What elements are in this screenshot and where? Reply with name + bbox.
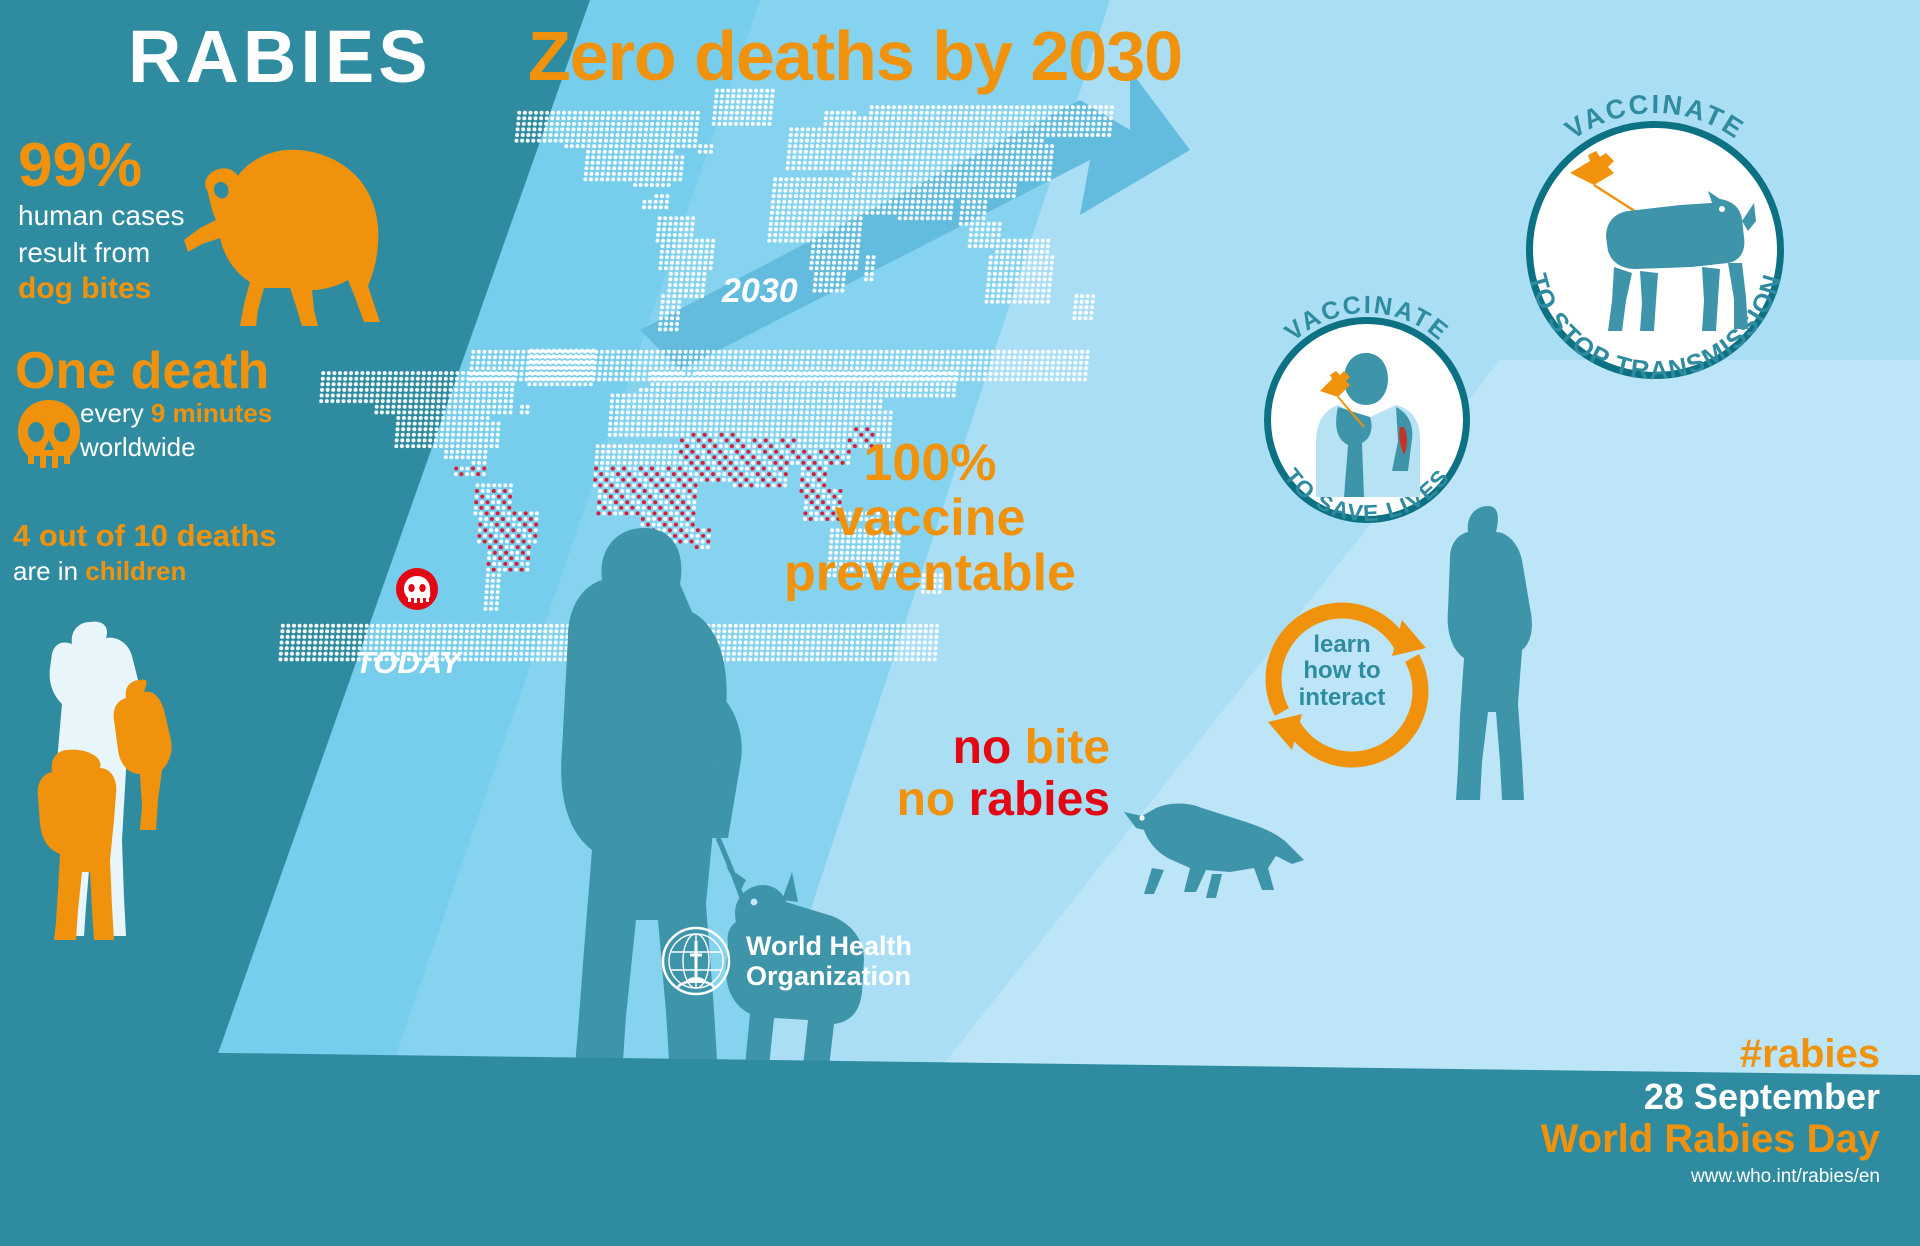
learn-line-1: learn (1292, 632, 1392, 658)
footer-info: #rabies 28 September World Rabies Day ww… (1541, 1032, 1880, 1188)
stat-children-lead: are in (13, 556, 85, 586)
headline: Zero deaths by 2030 (528, 16, 1182, 96)
stat-death-line2: worldwide (80, 432, 196, 463)
stat-children-highlight: children (85, 556, 186, 586)
no-rabies-word-no: no (897, 773, 956, 826)
world-map-2030 (469, 89, 1114, 382)
learn-line-2: how to (1292, 658, 1392, 684)
badge-stop-top: VACCINATE (1560, 95, 1751, 145)
stat-children-figure: 4 out of 10 deaths (13, 518, 277, 554)
who-logo-block: World Health Organization (660, 925, 912, 997)
infographic-poster: RABIES Zero deaths by 2030 99% human cas… (0, 0, 1920, 1246)
no-bite-word-no: no (953, 721, 1012, 774)
person-with-bite-icon (1304, 347, 1446, 497)
stat-death-lead: every (80, 398, 151, 428)
stat-99-line2: result from (18, 237, 150, 269)
stat-99-figure: 99% (18, 135, 142, 197)
mother-and-children-icon (18, 610, 218, 940)
no-rabies-word-rabies: rabies (969, 773, 1110, 826)
footer-hashtag[interactable]: #rabies (1541, 1032, 1880, 1077)
learn-how-to-interact-label: learn how to interact (1292, 632, 1392, 711)
badge-stop-transmission: VACCINATE TO STOP TRANSMISSION (1500, 95, 1810, 405)
dog-icon (172, 140, 402, 330)
vaccine-line-1: 100% (760, 436, 1100, 491)
who-name-line-1: World Health (746, 931, 912, 961)
who-logo-icon (660, 925, 732, 997)
stat-99-highlight: dog bites (18, 272, 151, 306)
badge-save-lives-top: VACCINATE (1279, 295, 1454, 347)
stat-death-highlight: 9 minutes (151, 398, 272, 428)
skull-marker-icon (396, 568, 438, 610)
stat-death-figure: One death (15, 345, 269, 397)
learn-line-3: interact (1292, 685, 1392, 711)
skull-icon (14, 398, 84, 478)
dog-icon (1562, 151, 1758, 341)
stat-children-line2: are in children (13, 556, 186, 587)
footer-url[interactable]: www.who.int/rabies/en (1541, 1166, 1880, 1188)
map-label-2030: 2030 (722, 272, 798, 311)
footer-date: 28 September (1541, 1077, 1880, 1117)
no-bite-word-bite: bite (1025, 721, 1110, 774)
person-standing-icon (1430, 500, 1550, 800)
who-name-line-2: Organization (746, 961, 912, 991)
footer-event: World Rabies Day (1541, 1117, 1880, 1162)
stat-99-line1: human cases (18, 200, 185, 232)
map-label-today: TODAY (355, 645, 461, 681)
dog-icon (1118, 782, 1308, 912)
stat-death-line1: every 9 minutes (80, 398, 272, 429)
no-bite-no-rabies-block: no bite no rabies (860, 722, 1110, 826)
page-title: RABIES (128, 14, 432, 99)
